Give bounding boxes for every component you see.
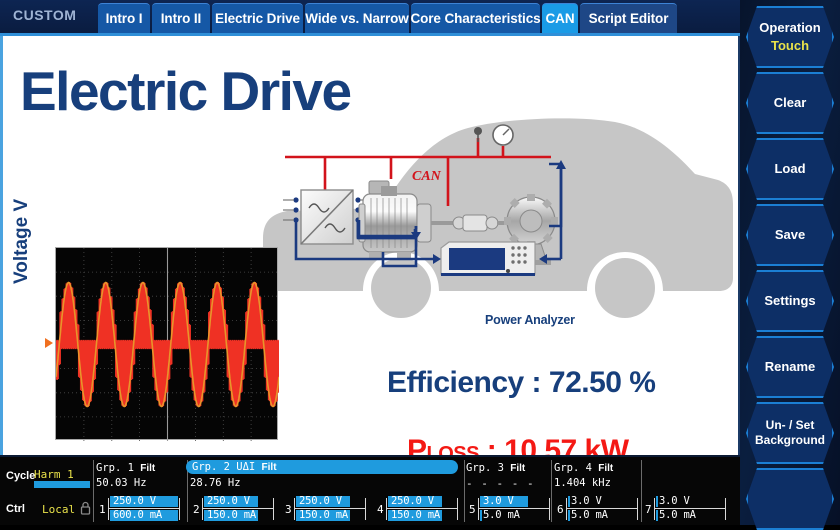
oscilloscope-panel [55, 247, 278, 440]
sidebar-button-label: Operation [759, 20, 820, 36]
main-content-panel: Electric Drive [0, 36, 740, 455]
group-name: Grp. 4 [554, 462, 598, 474]
channel-2[interactable]: 2250.0 V150.0 mA [193, 496, 277, 522]
tab-can[interactable]: CAN [542, 3, 578, 33]
channel-6[interactable]: 63.0 V5.0 mA [557, 496, 641, 522]
channel-number: 6 [557, 503, 564, 516]
ploss-subscript: LOSS [427, 443, 479, 455]
tab-label: Wide vs. Narrow [305, 11, 408, 26]
channel-current-row: 5.0 mA [568, 510, 636, 521]
channel-voltage-value: 3.0 V [659, 495, 690, 507]
ploss-prefix: P [407, 434, 427, 455]
sidebar-button-label: Un- / SetBackground [755, 418, 825, 447]
sidebar: OperationTouchClearLoadSaveSettingsRenam… [740, 0, 840, 525]
channel-bracket-right [457, 498, 458, 520]
channel-voltage-row: 250.0 V [388, 496, 456, 507]
channel-voltage-row: 250.0 V [204, 496, 272, 507]
sidebar-button-clear[interactable]: Clear [746, 72, 834, 134]
channel-bracket-right [273, 498, 274, 520]
power-loss-readout: PLOSS : 10.57 kW [407, 434, 629, 455]
tab-script-editor[interactable]: Script Editor [580, 3, 677, 33]
status-divider [464, 460, 465, 522]
efficiency-value: 72.50 % [549, 366, 656, 399]
cycle-bar [34, 481, 90, 488]
channel-7[interactable]: 73.0 V5.0 mA [645, 496, 729, 522]
group-filter-flag: Filt [510, 463, 525, 474]
channel-current-value: 5.0 mA [571, 509, 608, 521]
channel-current-value: 5.0 mA [483, 509, 520, 521]
group-filter-flag: Filt [262, 462, 277, 473]
sidebar-button-value: Touch [771, 38, 809, 54]
channel-current-bar [480, 510, 482, 521]
channel-bracket-left [386, 498, 387, 520]
channel-current-row: 150.0 mA [388, 510, 456, 521]
channel-current-row: 150.0 mA [204, 510, 272, 521]
sidebar-button-save[interactable]: Save [746, 204, 834, 266]
group-filter-flag: Filt [140, 463, 155, 474]
sensor-icons [474, 125, 513, 145]
channel-voltage-row: 3.0 V [656, 496, 724, 507]
group-header-3[interactable]: Grp. 3 Filt [466, 462, 525, 474]
page-title: Electric Drive [20, 64, 351, 119]
channel-4[interactable]: 4250.0 V150.0 mA [377, 496, 461, 522]
group-frequency-3: - - - - - [466, 477, 535, 490]
channel-voltage-value: 250.0 V [207, 495, 250, 507]
channel-1[interactable]: 1250.0 V600.0 mA [99, 496, 183, 522]
group-name: Grp. 2 UΔI [192, 461, 262, 473]
tab-intro-ii[interactable]: Intro II [152, 3, 210, 33]
channel-current-value: 600.0 mA [113, 509, 162, 521]
sidebar-button-label: Save [775, 227, 805, 243]
application-window: CUSTOM Intro IIntro IIElectric DriveWide… [0, 0, 840, 525]
efficiency-readout: Efficiency : 72.50 % [387, 366, 655, 400]
channel-number: 4 [377, 503, 384, 516]
channel-voltage-value: 3.0 V [483, 495, 514, 507]
sidebar-button-rename[interactable]: Rename [746, 336, 834, 398]
channel-bracket-right [179, 498, 180, 520]
tab-electric-drive[interactable]: Electric Drive [212, 3, 303, 33]
channel-number: 1 [99, 503, 106, 516]
tab-label: Electric Drive [215, 11, 300, 26]
cycle-label: Cycle [6, 470, 35, 482]
waveform-plot [56, 248, 279, 441]
channel-number: 3 [285, 503, 292, 516]
group-frequency-4: 1.404 kHz [554, 477, 611, 489]
channel-voltage-row: 250.0 V [110, 496, 178, 507]
group-header-4[interactable]: Grp. 4 Filt [554, 462, 613, 474]
channel-current-bar [656, 510, 658, 521]
ctrl-label: Ctrl [6, 503, 25, 515]
tab-wide-vs-narrow[interactable]: Wide vs. Narrow [305, 3, 409, 33]
group-frequency-1: 50.03 Hz [96, 477, 147, 489]
group-header-1[interactable]: Grp. 1 Filt [96, 462, 155, 474]
channel-voltage-row: 3.0 V [568, 496, 636, 507]
sidebar-button-empty-7[interactable] [746, 468, 834, 530]
channel-voltage-value: 250.0 V [299, 495, 342, 507]
tab-label: Intro I [106, 11, 143, 26]
tab-intro-i[interactable]: Intro I [98, 3, 150, 33]
group-name: Grp. 1 [96, 462, 140, 474]
channel-bracket-right [549, 498, 550, 520]
drivetrain-schematic [263, 116, 733, 331]
channel-current-value: 5.0 mA [659, 509, 696, 521]
channel-5[interactable]: 53.0 V5.0 mA [469, 496, 553, 522]
channel-number: 5 [469, 503, 476, 516]
channel-voltage-value: 250.0 V [391, 495, 434, 507]
channel-bracket-left [294, 498, 295, 520]
channel-current-bar [568, 510, 570, 521]
channel-bracket-left [654, 498, 655, 520]
efficiency-label: Efficiency : [387, 366, 549, 399]
cycle-value[interactable]: Harm 1 [34, 468, 74, 481]
status-bar: Cycle Harm 1 Ctrl Local Grp. 1 Filt50.03… [0, 457, 740, 525]
channel-current-value: 150.0 mA [299, 509, 348, 521]
channel-current-value: 150.0 mA [207, 509, 256, 521]
lock-icon [80, 501, 91, 515]
group-frequency-2: 28.76 Hz [190, 477, 241, 489]
channel-bracket-left [478, 498, 479, 520]
channel-number: 7 [645, 503, 652, 516]
sidebar-button-operation[interactable]: OperationTouch [746, 6, 834, 68]
channel-bracket-left [108, 498, 109, 520]
ctrl-value[interactable]: Local [42, 503, 75, 516]
channel-current-row: 5.0 mA [480, 510, 548, 521]
channel-bracket-left [202, 498, 203, 520]
scope-trigger-marker[interactable] [45, 338, 53, 348]
tab-label: Script Editor [589, 11, 669, 26]
channel-voltage-bar [656, 496, 658, 507]
sidebar-button-settings[interactable]: Settings [746, 270, 834, 332]
group-name: Grp. 3 [466, 462, 510, 474]
channel-voltage-row: 3.0 V [480, 496, 548, 507]
channel-bracket-left [566, 498, 567, 520]
tab-label: Core Characteristics [410, 11, 540, 26]
channel-current-row: 600.0 mA [110, 510, 178, 521]
status-divider [641, 460, 642, 522]
status-divider [93, 460, 94, 522]
power-analyzer-icon [441, 242, 535, 276]
channel-voltage-bar [568, 496, 570, 507]
sidebar-button-label: Load [774, 161, 805, 177]
sidebar-button-label: Clear [774, 95, 807, 111]
electric-motor-icon [359, 181, 431, 259]
sidebar-button-label: Settings [764, 293, 815, 309]
group-header-2[interactable]: Grp. 2 UΔI Filt [186, 460, 458, 474]
custom-label: CUSTOM [13, 7, 76, 23]
scope-y-axis-label: Voltage V [11, 199, 33, 284]
sidebar-button-un-set-background[interactable]: Un- / SetBackground [746, 402, 834, 464]
scope-caption: VFD Output [115, 454, 229, 455]
shaft-coupling-icon [431, 215, 511, 231]
channel-number: 2 [193, 503, 200, 516]
channel-voltage-row: 250.0 V [296, 496, 364, 507]
sidebar-button-load[interactable]: Load [746, 138, 834, 200]
ploss-value: : 10.57 kW [479, 434, 629, 455]
channel-voltage-value: 3.0 V [571, 495, 602, 507]
channel-3[interactable]: 3250.0 V150.0 mA [285, 496, 369, 522]
tab-label: Intro II [161, 11, 201, 26]
channel-bracket-right [637, 498, 638, 520]
group-filter-flag: Filt [598, 463, 613, 474]
oscilloscope-screen [55, 247, 278, 440]
sidebar-button-label: Rename [765, 359, 816, 375]
channel-current-row: 5.0 mA [656, 510, 724, 521]
channel-bracket-right [365, 498, 366, 520]
tab-core-characteristics[interactable]: Core Characteristics [411, 3, 540, 33]
power-analyzer-label: Power Analyzer [485, 313, 575, 327]
channel-current-row: 150.0 mA [296, 510, 364, 521]
tab-label: CAN [546, 11, 575, 26]
channel-current-value: 150.0 mA [391, 509, 440, 521]
channel-bracket-right [725, 498, 726, 520]
channel-voltage-value: 250.0 V [113, 495, 156, 507]
can-bus-label: CAN [412, 169, 441, 185]
tab-bar: CUSTOM Intro IIntro IIElectric DriveWide… [0, 0, 740, 33]
